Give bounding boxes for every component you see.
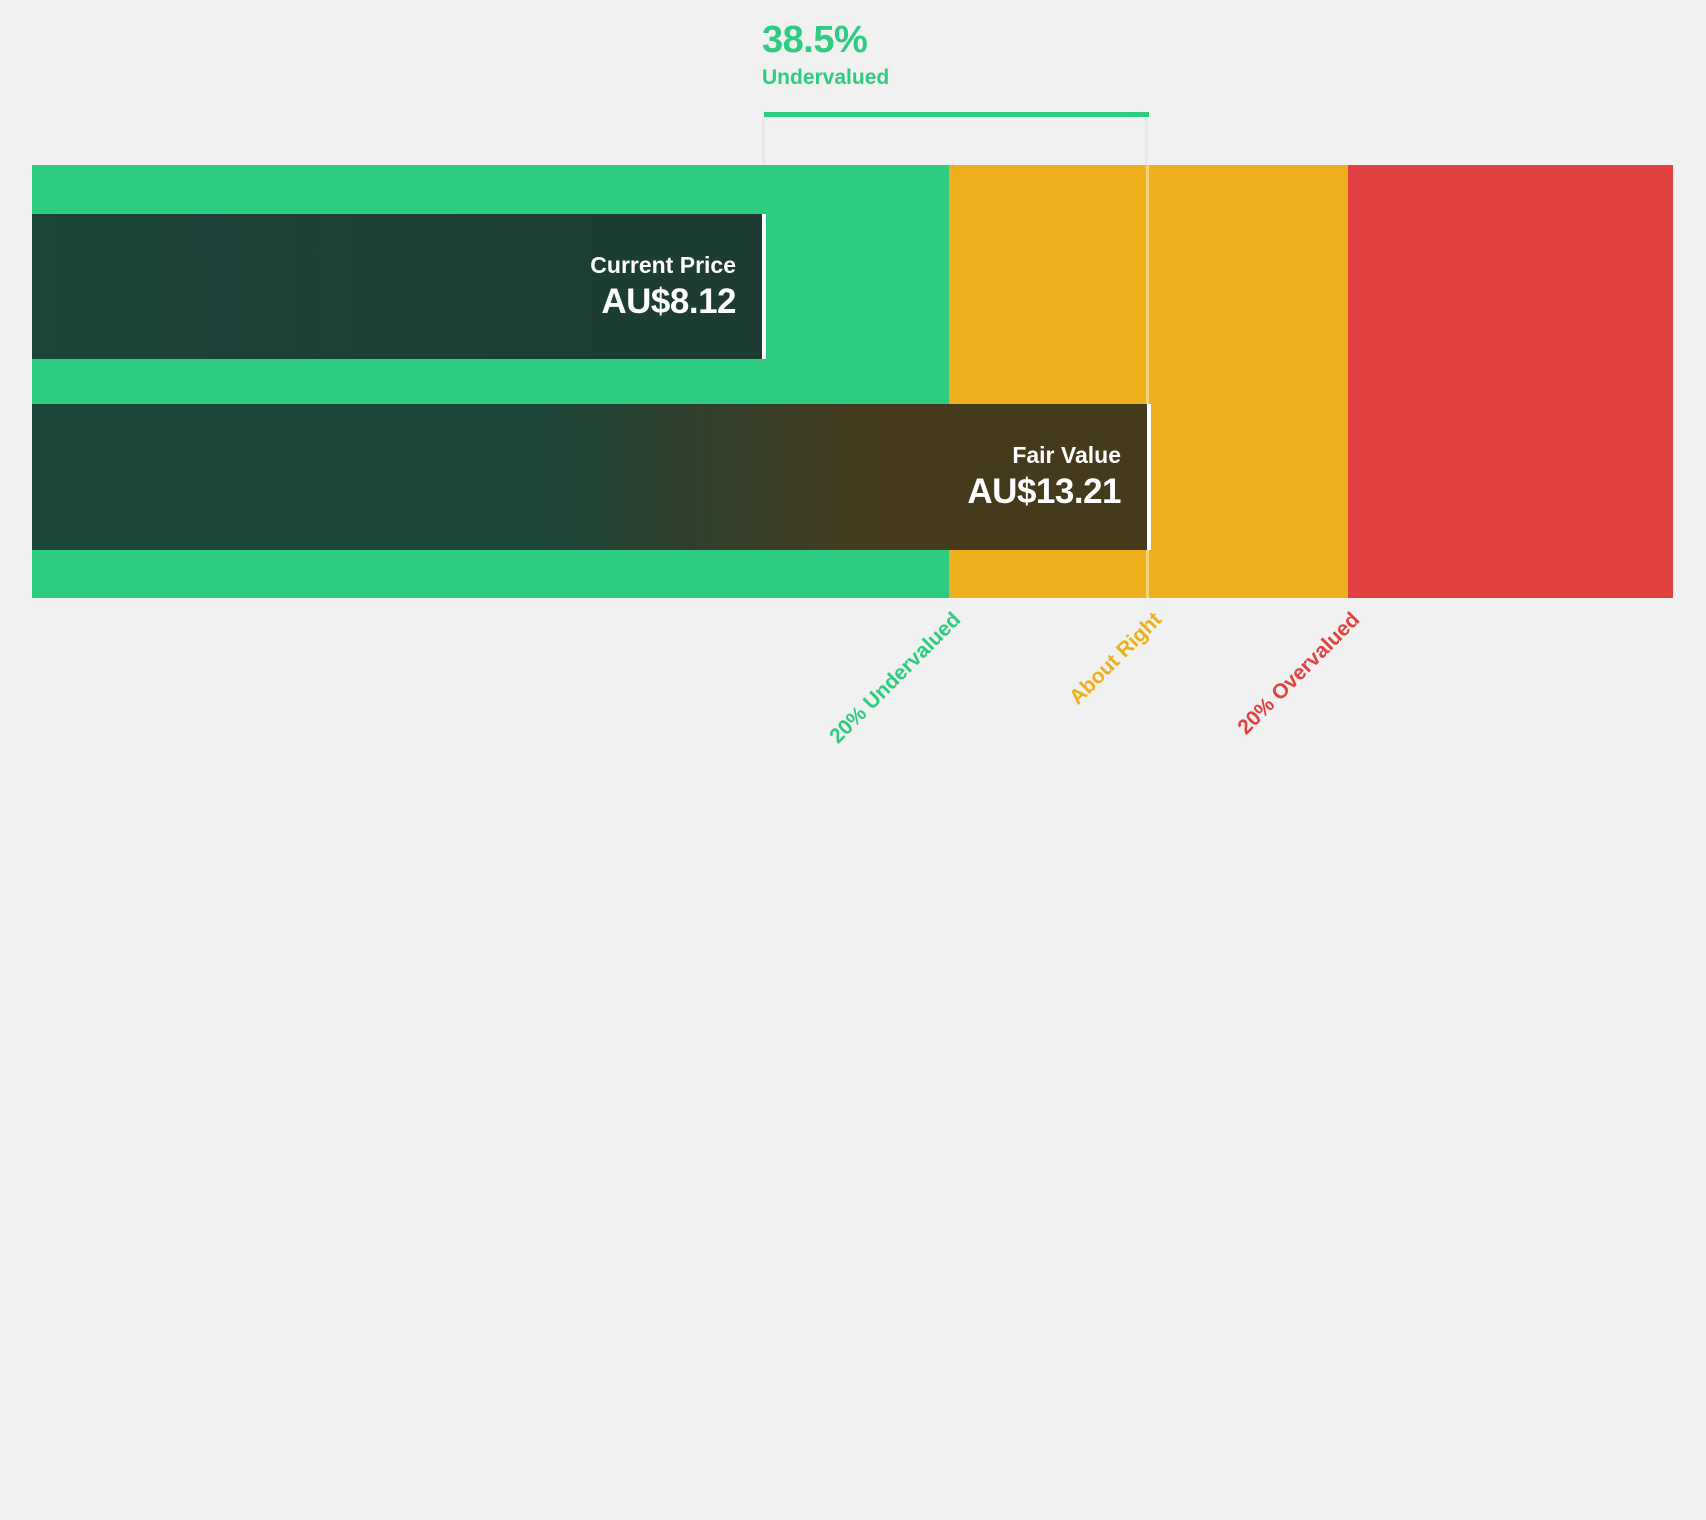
fair-value-bar: Fair Value AU$13.21 [32,404,1147,550]
valuation-status-label: Undervalued [762,64,1242,92]
fair-value-title: Fair Value [1012,440,1121,470]
axis-label-about-right: About Right [337,608,1167,1438]
current-price-value: AU$8.12 [601,280,736,324]
bracket-tick-current-price [762,117,765,165]
fair-value-value: AU$13.21 [967,470,1121,514]
valuation-chart: 38.5% Undervalued Current Price AU$8.12 … [0,0,1706,760]
valuation-callout: 38.5% Undervalued [762,18,1242,92]
zone-overvalued [1348,165,1673,598]
axis-label-overvalued: 20% Overvalued [395,608,1365,1520]
undervalued-percent: 38.5% [762,18,1242,62]
bracket-tick-fair-value [1145,117,1148,165]
valuation-bracket-line [764,112,1149,117]
current-price-marker [762,214,766,359]
current-price-title: Current Price [590,250,736,280]
current-price-bar: Current Price AU$8.12 [32,214,762,359]
fair-value-marker [1147,404,1151,550]
axis-label-undervalued: 20% Undervalued [278,608,966,1296]
